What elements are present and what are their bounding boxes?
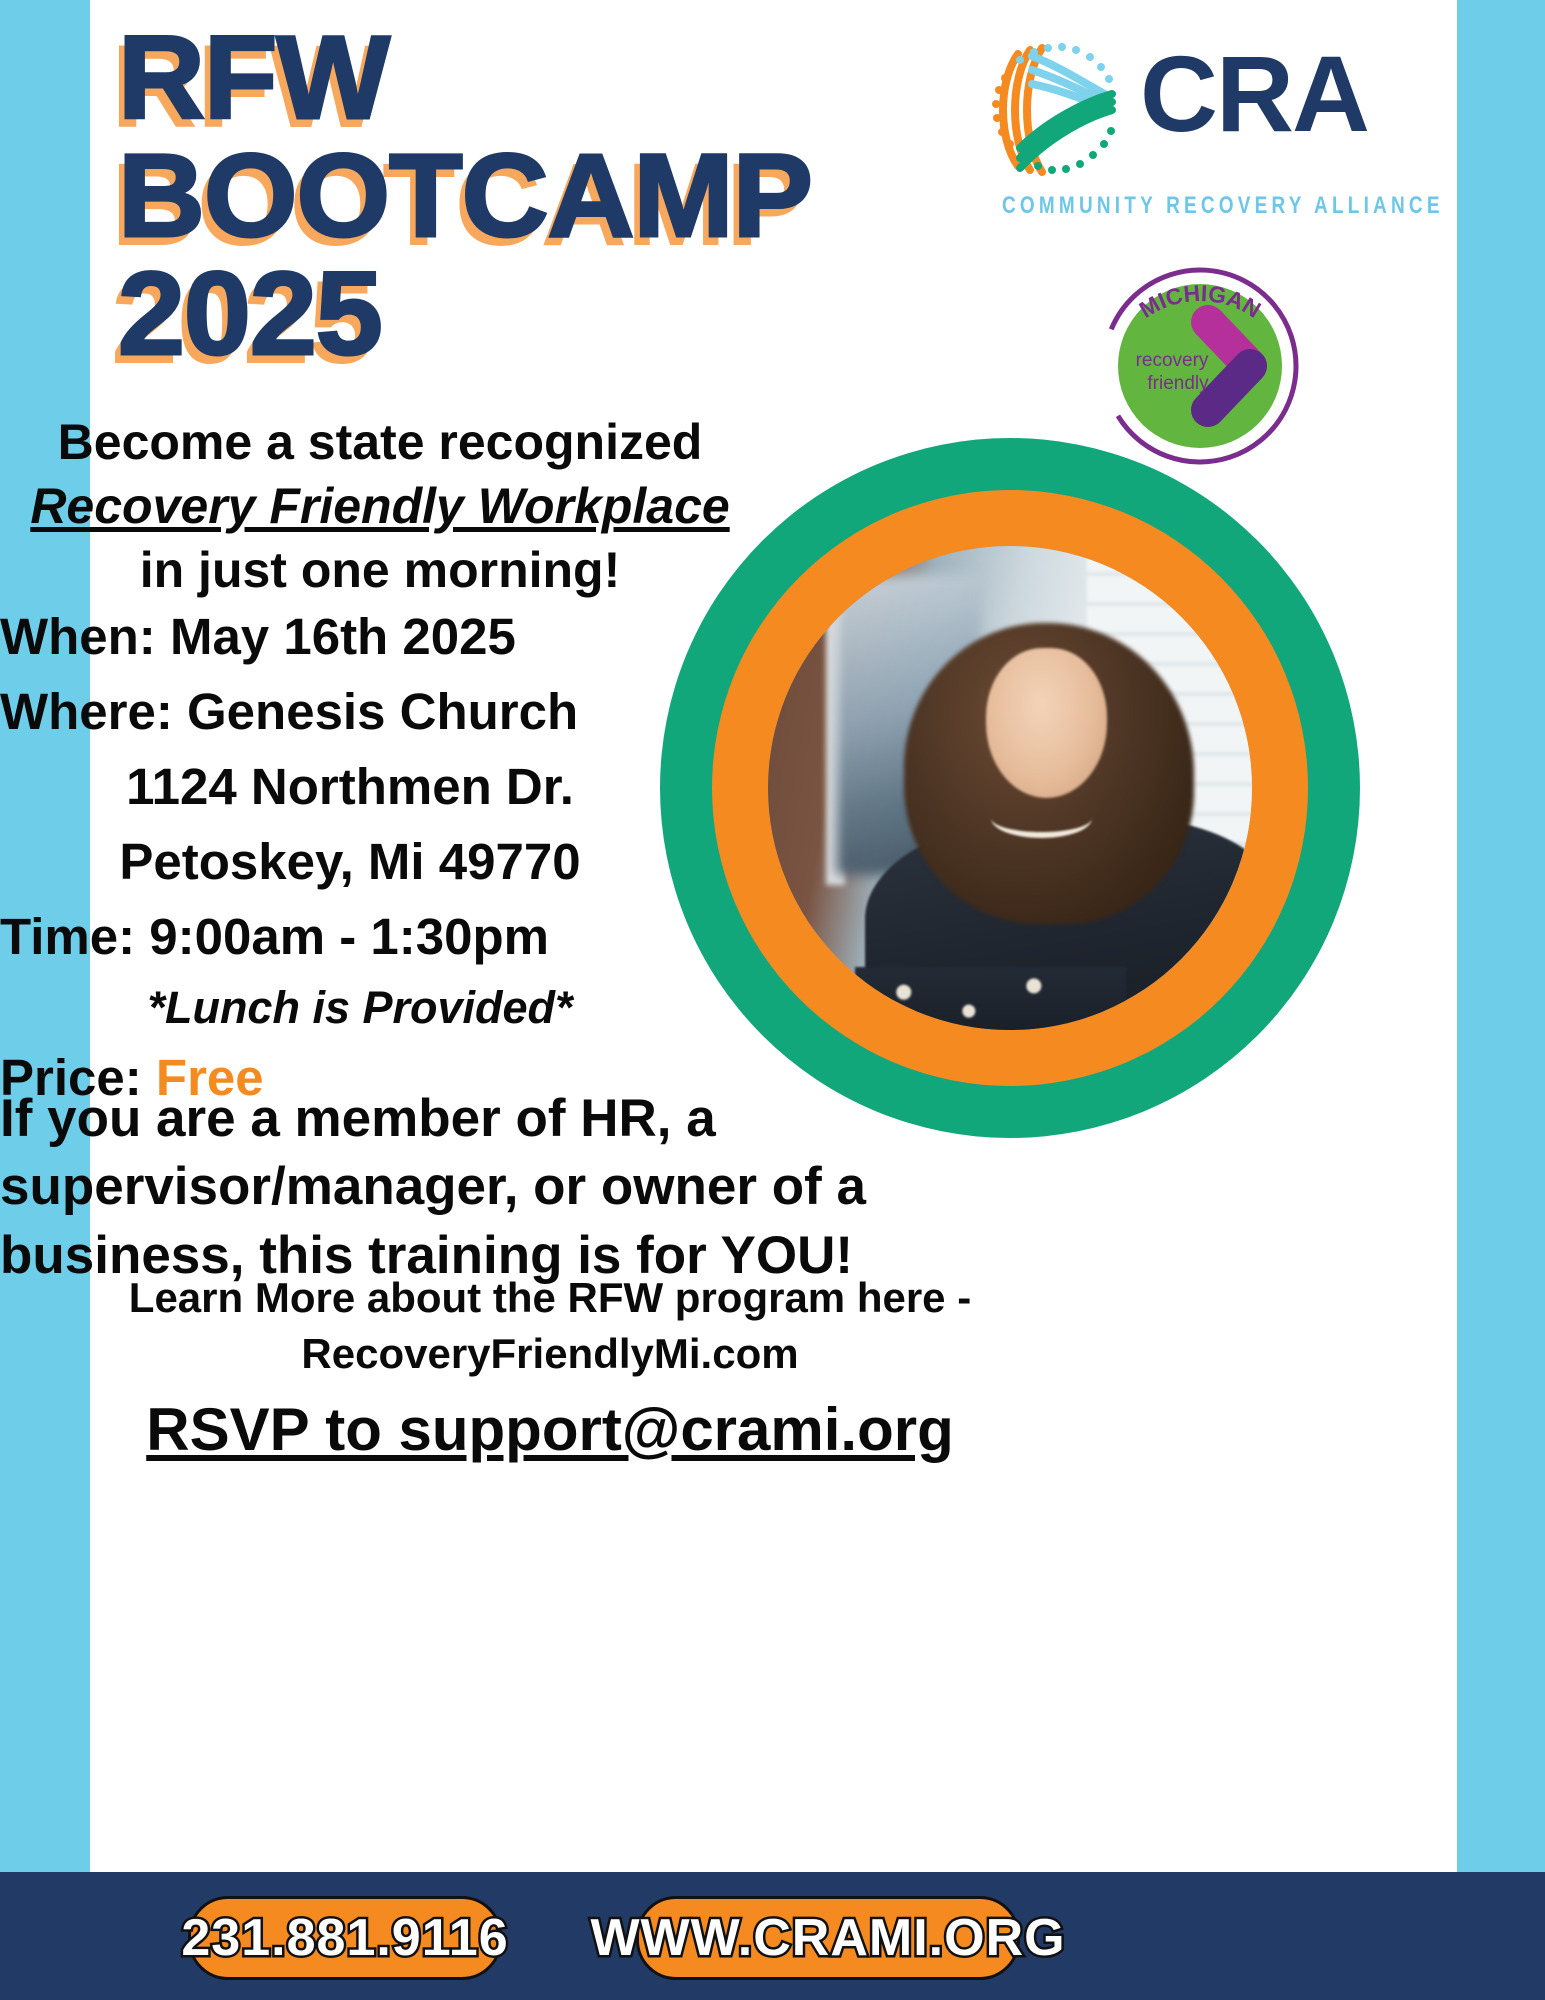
detail-address-2: Petoskey, Mi 49770 [0,825,790,900]
page-title: RFW BOOTCAMP 2025 [118,22,798,376]
website-url: WWW.CRAMI.ORG [590,1908,1065,1968]
michigan-recovery-friendly-badge: MICHIGAN recovery friendly [1084,240,1316,472]
title-line-2: BOOTCAMP [118,140,812,252]
learn-more: Learn More about the RFW program here - … [0,1270,1100,1382]
detail-time: Time: 9:00am - 1:30pm [0,900,790,975]
headline-emphasis: Recovery Friendly Workplace [0,474,760,538]
svg-text:friendly: friendly [1147,373,1209,394]
phone-pill[interactable]: 231.881.9116 [188,1896,502,1980]
detail-address-1: 1124 Northmen Dr. [0,750,790,825]
title-line-3: 2025 [118,258,812,370]
detail-when: When: May 16th 2025 [0,600,790,675]
cra-tagline: COMMUNITY RECOVERY ALLIANCE [1002,193,1444,221]
rsvp-line[interactable]: RSVP to support@crami.org [0,1395,1100,1464]
detail-lunch: *Lunch is Provided* [0,975,790,1041]
flyer-page: RFW BOOTCAMP 2025 [0,0,1545,2000]
learn-more-url[interactable]: RecoveryFriendlyMi.com [0,1326,1100,1382]
headline: Become a state recognized Recovery Frien… [0,410,760,602]
website-pill[interactable]: WWW.CRAMI.ORG [636,1896,1020,1980]
detail-where: Where: Genesis Church [0,675,790,750]
cra-logo: CRA COMMUNITY RECOVERY ALLIANCE [980,30,1360,240]
photo-image [768,546,1252,1030]
event-details: When: May 16th 2025 Where: Genesis Churc… [0,600,790,1116]
svg-text:recovery: recovery [1136,350,1209,371]
learn-more-line-1: Learn More about the RFW program here - [0,1270,1100,1326]
headline-line-3: in just one morning! [0,538,760,602]
cra-arcs-mark-icon [980,34,1130,184]
audience-paragraph: If you are a member of HR, a supervisor/… [0,1085,975,1290]
phone-number: 231.881.9116 [181,1908,508,1968]
headline-line-1: Become a state recognized [0,410,760,474]
cra-wordmark: CRA [1140,40,1368,148]
title-line-1: RFW [118,22,812,134]
footer-bar: 231.881.9116 WWW.CRAMI.ORG [0,1872,1545,2000]
